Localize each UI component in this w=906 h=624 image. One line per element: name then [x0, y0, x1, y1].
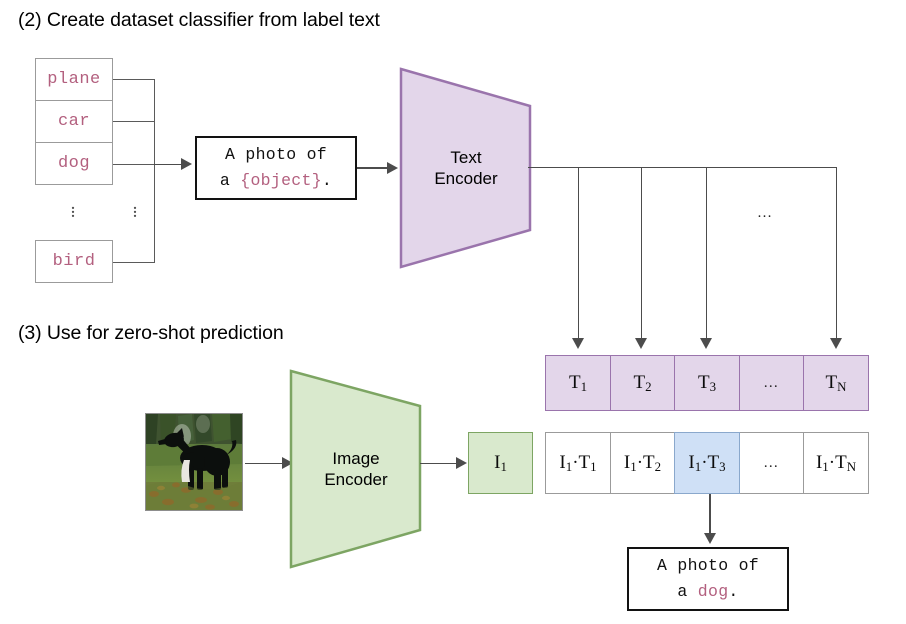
input-photo-image — [146, 414, 242, 510]
sim-a-sub: 1 — [630, 459, 636, 475]
connector-bus — [154, 79, 155, 263]
label-box-car: car — [35, 100, 113, 143]
arrow-photo-to-imageencoder-line — [245, 463, 283, 465]
image-embedding-sub: 1 — [500, 459, 506, 475]
label-text: bird — [53, 252, 96, 271]
sim-b-sub: 1 — [590, 459, 596, 475]
text-encoder-block: Text Encoder — [396, 64, 536, 272]
prediction-line-1: A photo of — [657, 553, 759, 579]
prompt-object-token: {object} — [240, 171, 322, 190]
image-embedding-box: I1 — [468, 432, 533, 494]
sim-a-sub: 1 — [566, 459, 572, 475]
sim-b: T — [708, 452, 720, 474]
prompt-line-2-prefix: a — [220, 171, 240, 190]
text-embedding-row: T1 T2 T3 … TN — [545, 355, 869, 411]
arrow-imageencoder-to-i1-line — [420, 463, 457, 465]
text-encoder-shape — [396, 64, 536, 272]
sim-b: T — [579, 452, 591, 474]
text-branch-ellipsis: … — [757, 205, 774, 222]
sim-b-sub: 3 — [719, 459, 725, 475]
t-cell-sub: 2 — [645, 379, 651, 395]
sim-a-sub: 1 — [822, 459, 828, 475]
prompt-line-2-suffix: . — [322, 171, 332, 190]
arrow-down-tn — [830, 338, 842, 349]
connector-car — [113, 121, 155, 122]
sim-a-sub: 1 — [695, 459, 701, 475]
label-list-vertical-ellipsis: ... — [66, 202, 80, 214]
similarity-cell-2: I1·T2 — [610, 432, 676, 494]
prediction-line-2-suffix: . — [728, 582, 738, 601]
arrow-selected-to-prediction-head — [704, 533, 716, 544]
connector-bird — [113, 262, 155, 263]
arrow-down-t3 — [700, 338, 712, 349]
label-box-dog: dog — [35, 142, 113, 185]
connector-vertical-ellipsis: ... — [128, 202, 142, 214]
arrow-prompt-to-textencoder-line — [357, 167, 388, 169]
t-cell-n: TN — [803, 355, 869, 411]
sim-b-sub: N — [847, 459, 856, 475]
sim-b: T — [643, 452, 655, 474]
arrow-labels-to-prompt-line — [154, 164, 182, 166]
t-cell-base: T — [826, 372, 838, 394]
t-cell-2: T2 — [610, 355, 676, 411]
t-cell-base: … — [763, 375, 780, 392]
t-cell-sub: N — [837, 379, 846, 395]
prompt-line-1: A photo of — [225, 142, 327, 168]
t-cell-sub: 1 — [581, 379, 587, 395]
similarity-cell-n: I1·TN — [803, 432, 869, 494]
sim-b: T — [835, 452, 847, 474]
input-photo — [145, 413, 243, 511]
branch-line-tn — [836, 167, 838, 339]
label-text: dog — [58, 154, 90, 173]
arrow-labels-to-prompt-head — [181, 158, 192, 170]
t-cell-base: T — [633, 372, 645, 394]
prediction-class-token: dog — [698, 582, 729, 601]
sim-b-sub: 2 — [655, 459, 661, 475]
arrow-selected-to-prediction-line — [709, 494, 711, 534]
label-text: plane — [47, 70, 101, 89]
branch-line-t3 — [706, 167, 708, 339]
t-cell-sub: 3 — [710, 379, 716, 395]
t-cell-1: T1 — [545, 355, 611, 411]
label-box-plane: plane — [35, 58, 113, 101]
arrow-down-t1 — [572, 338, 584, 349]
prompt-line-2: a {object}. — [220, 168, 332, 194]
section-2-title: (2) Create dataset classifier from label… — [18, 9, 380, 32]
text-embedding-bus — [528, 167, 837, 169]
similarity-row: I1·T1 I1·T2 I1·T3 … I1·TN — [545, 432, 869, 494]
arrow-down-t2 — [635, 338, 647, 349]
t-cell-base: T — [569, 372, 581, 394]
similarity-cell-3-selected: I1·T3 — [674, 432, 740, 494]
sim-a: … — [763, 455, 780, 472]
branch-line-t2 — [641, 167, 643, 339]
image-encoder-block: Image Encoder — [286, 366, 426, 572]
label-text: car — [58, 112, 90, 131]
t-cell-ellipsis: … — [739, 355, 805, 411]
arrow-imageencoder-to-i1-head — [456, 457, 467, 469]
similarity-cell-1: I1·T1 — [545, 432, 611, 494]
similarity-cell-ellipsis: … — [739, 432, 805, 494]
image-encoder-shape — [286, 366, 426, 572]
section-3-title: (3) Use for zero-shot prediction — [18, 322, 284, 345]
label-box-bird: bird — [35, 240, 113, 283]
t-cell-3: T3 — [674, 355, 740, 411]
t-cell-base: T — [698, 372, 710, 394]
figure-canvas: (2) Create dataset classifier from label… — [0, 0, 906, 624]
prompt-template-box: A photo of a {object}. — [195, 136, 357, 200]
branch-line-t1 — [578, 167, 580, 339]
prediction-line-2-prefix: a — [677, 582, 697, 601]
prediction-line-2: a dog. — [677, 579, 738, 605]
connector-plane — [113, 79, 155, 80]
prediction-box: A photo of a dog. — [627, 547, 789, 611]
